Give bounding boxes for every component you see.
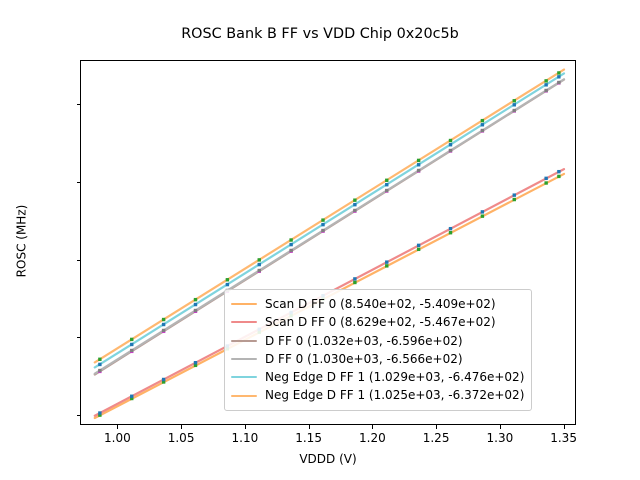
data-point [226,283,229,286]
data-point [449,149,452,152]
data-point [353,203,356,206]
data-point [449,139,452,142]
data-point [289,249,292,252]
data-point [417,244,420,247]
x-tick-mark [436,425,437,429]
x-tick-label: 1.05 [168,431,195,445]
data-point [557,71,560,74]
data-point [353,281,356,284]
data-point [353,209,356,212]
data-point [385,260,388,263]
data-point [353,198,356,201]
legend-label: D FF 0 (1.032e+03, -6.596e+02) [265,332,463,350]
legend-item[interactable]: Neg Edge D FF 1 (1.029e+03, -6.476e+02) [231,368,524,386]
legend-label: D FF 0 (1.030e+03, -6.566e+02) [265,350,463,368]
data-point [98,369,101,372]
legend-color-swatch [231,395,257,397]
data-point [289,243,292,246]
data-point [481,123,484,126]
data-point [258,263,261,266]
data-point [544,181,547,184]
data-point [162,378,165,381]
data-point [385,183,388,186]
matplotlib-figure: ROSC Bank B FF vs VDD Chip 0x20c5b 30040… [0,0,640,480]
x-tick-mark [372,425,373,429]
data-point [321,229,324,232]
data-point [130,395,133,398]
data-point [557,170,560,173]
x-tick-mark [500,425,501,429]
chart-legend: Scan D FF 0 (8.540e+02, -5.409e+02)Scan … [224,289,532,411]
data-point [289,238,292,241]
data-point [449,143,452,146]
y-axis-label: ROSC (MHz) [15,59,31,424]
data-point [385,264,388,267]
data-point [513,193,516,196]
y-tick-mark [77,415,81,416]
y-tick-mark [77,182,81,183]
data-point [162,318,165,321]
data-point [258,258,261,261]
x-tick-label: 1.35 [550,431,577,445]
data-point [385,189,388,192]
x-tick-mark [564,425,565,429]
data-point [417,159,420,162]
data-point [194,303,197,306]
legend-label: Scan D FF 0 (8.540e+02, -5.409e+02) [265,295,496,313]
y-tick-mark [77,104,81,105]
data-point [130,343,133,346]
y-tick-mark [77,260,81,261]
legend-item[interactable]: Scan D FF 0 (8.629e+02, -5.467e+02) [231,313,524,331]
x-tick-label: 1.00 [104,431,131,445]
data-point [557,175,560,178]
x-tick-mark [181,425,182,429]
data-point [513,198,516,201]
legend-color-swatch [231,303,257,305]
data-point [98,358,101,361]
legend-color-swatch [231,376,257,378]
data-point [513,99,516,102]
data-point [417,169,420,172]
data-point [417,163,420,166]
data-point [417,248,420,251]
legend-color-swatch [231,321,257,323]
legend-color-swatch [231,340,257,342]
legend-item[interactable]: Scan D FF 0 (8.540e+02, -5.409e+02) [231,295,524,313]
data-point [449,231,452,234]
legend-color-swatch [231,358,257,360]
data-point [98,411,101,414]
data-point [481,119,484,122]
data-point [321,223,324,226]
data-point [557,75,560,78]
x-tick-mark [117,425,118,429]
data-point [162,323,165,326]
x-tick-label: 1.10 [232,431,259,445]
legend-label: Neg Edge D FF 1 (1.025e+03, -6.372e+02) [265,386,524,404]
x-tick-mark [309,425,310,429]
data-point [258,269,261,272]
data-point [194,361,197,364]
data-point [226,278,229,281]
data-point [194,298,197,301]
data-point [98,363,101,366]
legend-label: Neg Edge D FF 1 (1.029e+03, -6.476e+02) [265,368,524,386]
data-point [162,329,165,332]
data-point [130,349,133,352]
data-point [481,210,484,213]
x-axis-label: VDDD (V) [80,452,576,466]
data-point [321,218,324,221]
data-point [130,338,133,341]
data-point [513,109,516,112]
y-tick-mark [77,337,81,338]
data-point [513,103,516,106]
data-point [544,89,547,92]
legend-item[interactable]: D FF 0 (1.030e+03, -6.566e+02) [231,350,524,368]
chart-title: ROSC Bank B FF vs VDD Chip 0x20c5b [0,26,640,42]
x-tick-label: 1.25 [423,431,450,445]
data-point [557,81,560,84]
data-point [449,227,452,230]
data-point [481,214,484,217]
data-point [385,179,388,182]
x-tick-mark [245,425,246,429]
data-point [544,83,547,86]
data-point [194,309,197,312]
legend-item[interactable]: D FF 0 (1.032e+03, -6.596e+02) [231,332,524,350]
data-point [353,277,356,280]
x-tick-label: 1.15 [295,431,322,445]
data-point [481,129,484,132]
x-tick-label: 1.20 [359,431,386,445]
legend-label: Scan D FF 0 (8.629e+02, -5.467e+02) [265,313,496,331]
data-point [544,79,547,82]
legend-item[interactable]: Neg Edge D FF 1 (1.025e+03, -6.372e+02) [231,386,524,404]
data-point [544,177,547,180]
x-tick-label: 1.30 [487,431,514,445]
